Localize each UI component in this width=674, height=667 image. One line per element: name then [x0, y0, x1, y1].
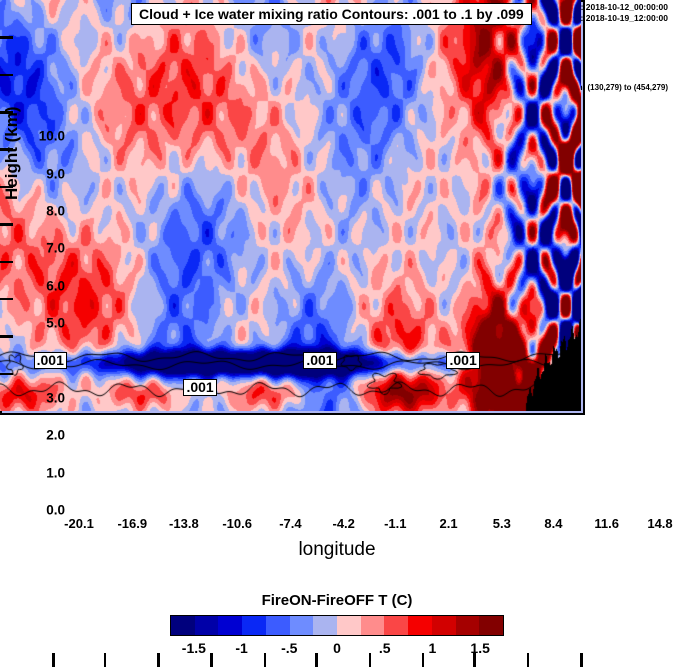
colorbar-swatch	[290, 616, 314, 635]
colorbar-swatch	[432, 616, 456, 635]
y-tick-mark	[0, 298, 13, 301]
y-tick-label: 5.0	[46, 316, 65, 331]
y-tick-mark	[0, 335, 13, 338]
y-tick-mark	[0, 111, 13, 114]
x-tick-label: 11.6	[594, 516, 619, 531]
x-tick-label: 8.4	[544, 516, 562, 531]
y-tick-mark	[0, 186, 13, 189]
x-tick-label: 2.1	[440, 516, 458, 531]
x-tick-label: -4.2	[332, 516, 354, 531]
contour-value-label: .001	[303, 352, 336, 369]
colorbar-swatch	[218, 616, 242, 635]
contour-title-box: Cloud + Ice water mixing ratio Contours:…	[131, 3, 532, 25]
y-tick-label: 8.0	[46, 204, 65, 219]
contour-value-label: .001	[446, 352, 479, 369]
colorbar-swatch	[408, 616, 432, 635]
colorbar-swatch	[171, 616, 195, 635]
temperature-difference-field	[0, 0, 581, 411]
y-tick-mark	[0, 373, 13, 376]
colorbar-tick-label: -1	[235, 640, 247, 656]
colorbar-swatch	[337, 616, 361, 635]
contour-value-label: .001	[183, 379, 216, 396]
colorbar-title: FireON-FireOFF T (C)	[0, 592, 674, 609]
colorbar-swatch	[361, 616, 385, 635]
x-tick-label: -7.4	[279, 516, 301, 531]
y-tick-mark	[0, 74, 13, 77]
y-tick-label: 3.0	[46, 390, 65, 405]
colorbar-tick-label: -1.5	[182, 640, 206, 656]
y-tick-mark	[0, 36, 13, 39]
y-tick-mark	[0, 223, 13, 226]
colorbar-swatch	[456, 616, 480, 635]
contour-value-label: .001	[34, 352, 67, 369]
y-tick-mark	[0, 148, 13, 151]
colorbar-swatch	[242, 616, 266, 635]
y-tick-label: 10.0	[39, 129, 65, 144]
x-axis-title: longitude	[0, 539, 674, 561]
x-tick-label: -1.1	[384, 516, 406, 531]
colorbar-tick-label: 1	[429, 640, 437, 656]
x-tick-label: 5.3	[493, 516, 511, 531]
x-tick-label: -13.8	[169, 516, 199, 531]
y-tick-mark	[0, 261, 13, 264]
x-axis-labels: -20.1-16.9-13.8-10.6-7.4-4.2-1.12.15.38.…	[0, 516, 674, 536]
y-tick-label: 2.0	[46, 428, 65, 443]
colorbar-swatch	[266, 616, 290, 635]
colorbar-tick-label: .5	[379, 640, 391, 656]
colorbar-tick-labels: -1.5-1-.50.511.5	[170, 640, 504, 660]
x-tick-label: -10.6	[222, 516, 252, 531]
x-tick-label: 14.8	[647, 516, 672, 531]
colorbar-swatch	[384, 616, 408, 635]
colorbar-tick-label: 0	[333, 640, 341, 656]
colorbar-swatch	[313, 616, 337, 635]
y-tick-label: 1.0	[46, 465, 65, 480]
cross-section-plot: Cloud + Ice water mixing ratio Contours:…	[0, 0, 585, 415]
colorbar-swatch	[195, 616, 219, 635]
colorbar-tick-label: -.5	[281, 640, 297, 656]
y-tick-label: 9.0	[46, 166, 65, 181]
x-tick-label: -20.1	[64, 516, 94, 531]
x-tick-label: -16.9	[117, 516, 147, 531]
colorbar	[170, 615, 504, 636]
y-tick-label: 6.0	[46, 278, 65, 293]
colorbar-swatch	[479, 616, 503, 635]
y-tick-label: 7.0	[46, 241, 65, 256]
